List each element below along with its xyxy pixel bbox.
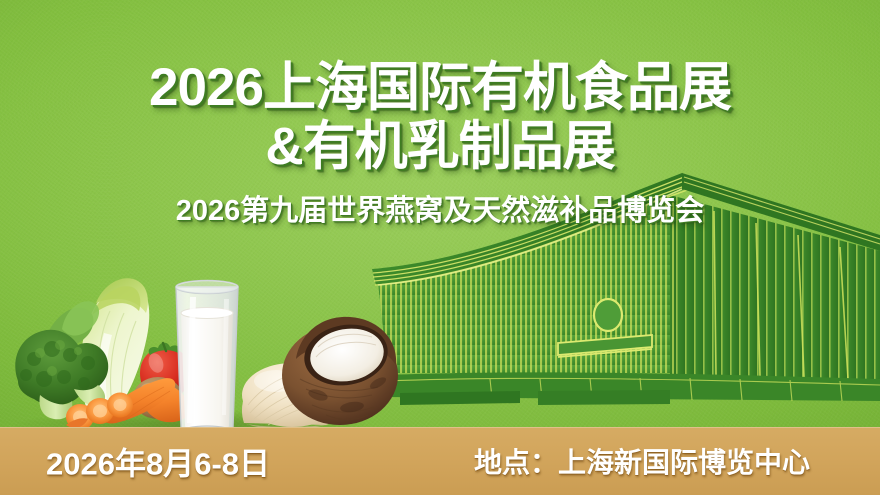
event-date: 2026年8月6-8日 [46, 439, 270, 484]
expo-building-illustration [370, 165, 880, 435]
expo-banner: 2026上海国际有机食品展 &有机乳制品展 2026第九届世界燕窝及天然滋补品博… [0, 0, 880, 495]
footer-bar: 2026年8月6-8日 地点：上海新国际博览中心 [0, 427, 880, 495]
event-venue: 地点：上海新国际博览中心 [474, 441, 810, 481]
food-group-illustration [0, 255, 400, 440]
